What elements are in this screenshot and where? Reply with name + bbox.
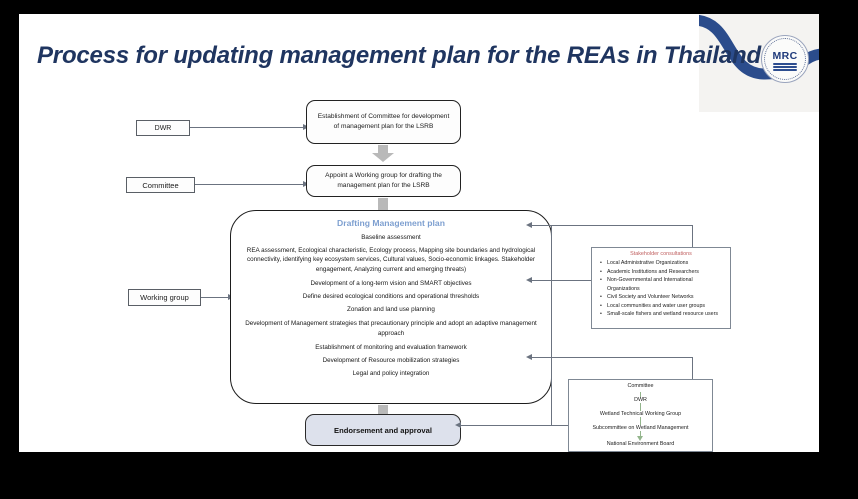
drafting-item: Development of a long-term vision and SM… — [242, 280, 540, 287]
approval-chain-item: Subcommittee on Wetland Management — [569, 425, 712, 431]
endorsement-label: Endorsement and approval — [334, 426, 432, 435]
approval-chain-item: DWR — [569, 397, 712, 403]
list-item-label: Academic Institutions and Researchers — [607, 269, 699, 275]
feedback-arrow-mid — [526, 277, 532, 283]
logo-inner-ring — [764, 38, 806, 80]
connector-dwr — [190, 127, 305, 128]
logo-text: MRC — [761, 50, 809, 62]
list-item-label: Non-Governmental and International Organ… — [607, 277, 693, 292]
approval-chain-item: Wetland Technical Working Group — [569, 411, 712, 417]
feedback-line-top — [531, 225, 693, 226]
drafting-item: Establishment of monitoring and evaluati… — [242, 344, 540, 351]
list-item: • Local Administrative Organizations — [607, 259, 726, 268]
stakeholder-heading: Stakeholder consultations — [596, 251, 726, 257]
page-title: Process for updating management plan for… — [37, 42, 761, 70]
list-item-label: Small-scale fishers and wetland resource… — [607, 311, 718, 317]
stakeholder-consultations-box: Stakeholder consultations • Local Admini… — [591, 247, 731, 329]
bullet-icon: • — [600, 310, 602, 319]
logo-outer-ring — [761, 35, 809, 83]
drafting-item: Development of Resource mobilization str… — [242, 357, 540, 364]
drafting-item: Zonation and land use planning — [242, 306, 540, 313]
drafting-item: Development of Management strategies tha… — [242, 319, 540, 338]
stakeholder-list: • Local Administrative Organizations • A… — [596, 259, 726, 319]
list-item: • Non-Governmental and International Org… — [607, 276, 726, 293]
actor-committee: Committee — [126, 177, 195, 193]
logo-waves-icon — [773, 63, 797, 74]
list-item-label: Civil Society and Volunteer Networks — [607, 294, 694, 300]
actor-working-group-label: Working group — [140, 293, 189, 302]
step-establish-committee: Establishment of Committee for developme… — [306, 100, 461, 144]
feedback-spine — [551, 225, 552, 425]
list-item-label: Local Administrative Organizations — [607, 260, 688, 266]
bullet-icon: • — [600, 276, 602, 285]
list-item: • Civil Society and Volunteer Networks — [607, 293, 726, 302]
approval-chain-box: Committee DWR Wetland Technical Working … — [568, 379, 713, 452]
drafting-item: Baseline assessment — [242, 234, 540, 241]
mrc-logo: MRC — [761, 35, 809, 83]
feedback-rise-low — [692, 357, 693, 379]
endorsement-box: Endorsement and approval — [305, 414, 461, 446]
bullet-icon: • — [600, 293, 602, 302]
feedback-line-endorse — [460, 425, 569, 426]
actor-dwr: DWR — [136, 120, 190, 136]
arrow-step1-to-step2 — [372, 145, 394, 162]
list-item: • Local communities and water user group… — [607, 302, 726, 311]
actor-working-group: Working group — [128, 289, 201, 306]
connector-working-group — [201, 297, 230, 298]
actor-committee-label: Committee — [142, 181, 178, 190]
slide-canvas: MRC Process for updating management plan… — [19, 14, 819, 452]
feedback-drop-top — [692, 225, 693, 247]
bullet-icon: • — [600, 302, 602, 311]
step-establish-committee-label: Establishment of Committee for developme… — [315, 112, 452, 132]
connector-committee — [195, 184, 305, 185]
feedback-arrow-top — [526, 222, 532, 228]
bullet-icon: • — [600, 259, 602, 268]
feedback-line-mid — [531, 280, 591, 281]
screenshot-root: MRC Process for updating management plan… — [0, 0, 858, 499]
approval-chain-item: Committee — [569, 383, 712, 389]
drafting-item: Legal and policy integration — [242, 370, 540, 377]
list-item-label: Local communities and water user groups — [607, 303, 705, 309]
drafting-heading: Drafting Management plan — [242, 218, 540, 228]
approval-chain-item: National Environment Board — [569, 441, 712, 447]
feedback-line-low — [531, 357, 692, 358]
list-item: • Small-scale fishers and wetland resour… — [607, 310, 726, 319]
drafting-item: Define desired ecological conditions and… — [242, 293, 540, 300]
actor-dwr-label: DWR — [155, 125, 172, 132]
feedback-arrow-low — [526, 354, 532, 360]
list-item: • Academic Institutions and Researchers — [607, 268, 726, 277]
drafting-management-plan-box: Drafting Management plan Baseline assess… — [230, 210, 552, 404]
drafting-item: REA assessment, Ecological characteristi… — [242, 246, 540, 274]
step-appoint-working-group-label: Appoint a Working group for drafting the… — [315, 171, 452, 191]
bullet-icon: • — [600, 268, 602, 277]
step-appoint-working-group: Appoint a Working group for drafting the… — [306, 165, 461, 197]
feedback-arrow-endorse — [455, 422, 461, 428]
